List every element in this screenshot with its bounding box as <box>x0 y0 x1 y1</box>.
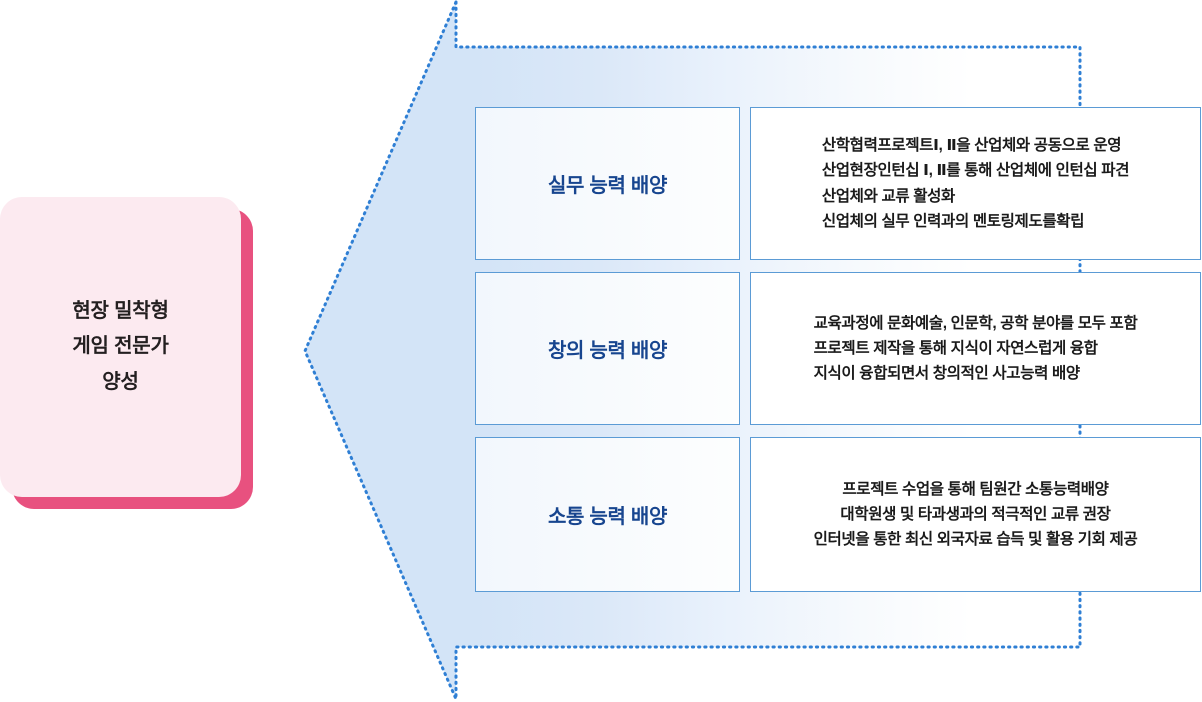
diagram-canvas: 현장 밀착형 게임 전문가 양성 실무 능력 배양 산학협력프로젝트Ⅰ, Ⅱ을 … <box>0 0 1202 702</box>
detail-box-row-2[interactable]: 교육과정에 문화예술, 인문학, 공학 분야를 모두 포함 프로젝트 제작을 통… <box>750 272 1201 425</box>
detail-text-row-2: 교육과정에 문화예술, 인문학, 공학 분야를 모두 포함 프로젝트 제작을 통… <box>814 311 1138 387</box>
goal-card: 현장 밀착형 게임 전문가 양성 <box>0 197 241 497</box>
goal-card-text: 현장 밀착형 게임 전문가 양성 <box>72 294 168 401</box>
detail-text-row-1: 산학협력프로젝트Ⅰ, Ⅱ을 산업체와 공동으로 운영 산업현장인턴십 Ⅰ, Ⅱ를… <box>822 133 1129 234</box>
label-box-row-2[interactable]: 창의 능력 배양 <box>475 272 740 425</box>
detail-text-row-3: 프로젝트 수업을 통해 팀원간 소통능력배양 대학원생 및 타과생과의 적극적인… <box>814 477 1138 553</box>
label-text-row-1: 실무 능력 배양 <box>548 169 667 198</box>
label-text-row-3: 소통 능력 배양 <box>548 500 667 529</box>
label-box-row-3[interactable]: 소통 능력 배양 <box>475 437 740 592</box>
label-text-row-2: 창의 능력 배양 <box>548 334 667 363</box>
label-box-row-1[interactable]: 실무 능력 배양 <box>475 107 740 260</box>
detail-box-row-3[interactable]: 프로젝트 수업을 통해 팀원간 소통능력배양 대학원생 및 타과생과의 적극적인… <box>750 437 1201 592</box>
detail-box-row-1[interactable]: 산학협력프로젝트Ⅰ, Ⅱ을 산업체와 공동으로 운영 산업현장인턴십 Ⅰ, Ⅱ를… <box>750 107 1201 260</box>
